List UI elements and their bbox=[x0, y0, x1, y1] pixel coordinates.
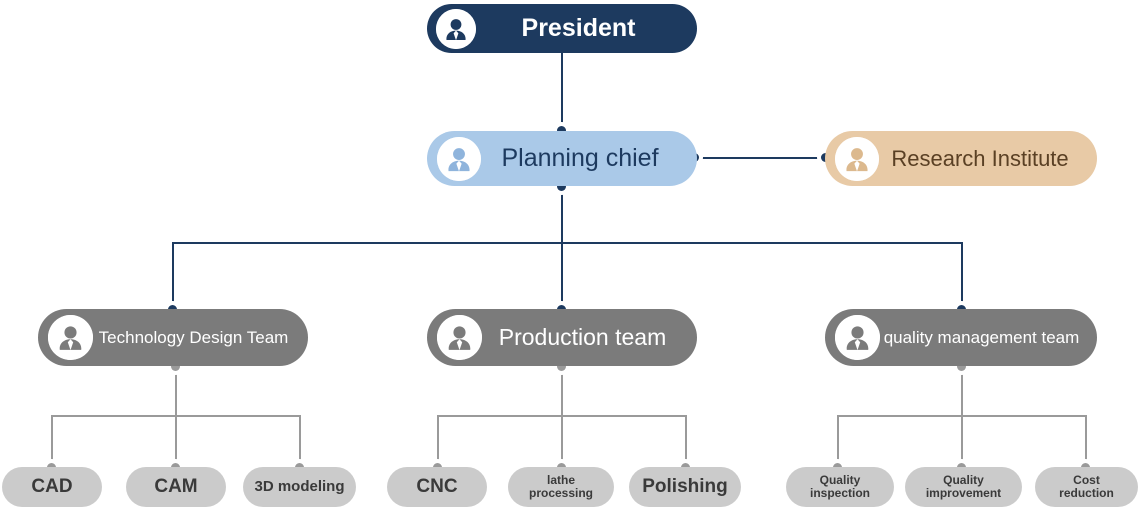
node-polishing[interactable]: Polishing bbox=[629, 467, 741, 507]
node-3d-modeling-label: 3D modeling bbox=[254, 479, 344, 496]
connector-bus-to-production-team bbox=[561, 242, 563, 310]
connector-teams-bus bbox=[172, 242, 962, 244]
node-cost-reduction-label: Cost reduction bbox=[1059, 474, 1114, 500]
node-cad[interactable]: CAD bbox=[2, 467, 102, 507]
node-cnc-label: CNC bbox=[416, 477, 457, 498]
connector-bus-to-tech-team bbox=[172, 242, 174, 310]
person-icon bbox=[48, 315, 93, 360]
org-chart-canvas: President Planning chief Research Instit… bbox=[0, 0, 1140, 507]
node-production-team-label: Production team bbox=[482, 324, 697, 350]
node-quality-improvement-line1: Quality bbox=[943, 473, 984, 487]
node-production-team[interactable]: Production team bbox=[427, 309, 697, 366]
node-lathe-processing-line2: processing bbox=[529, 486, 593, 500]
node-cam[interactable]: CAM bbox=[126, 467, 226, 507]
node-polishing-label: Polishing bbox=[642, 477, 728, 498]
connector-quality-to-improvement bbox=[961, 415, 963, 468]
node-technology-design-team[interactable]: Technology Design Team bbox=[38, 309, 308, 366]
connector-production-to-lathe bbox=[561, 415, 563, 468]
connector-planning-to-research bbox=[694, 157, 827, 159]
node-quality-improvement[interactable]: Quality improvement bbox=[905, 467, 1022, 507]
connector-quality-drop bbox=[961, 366, 963, 416]
connector-president-to-planning bbox=[561, 52, 563, 130]
node-president-label: President bbox=[476, 14, 697, 43]
node-quality-improvement-label: Quality improvement bbox=[926, 474, 1001, 500]
node-cost-reduction-line1: Cost bbox=[1073, 473, 1100, 487]
node-cost-reduction-line2: reduction bbox=[1059, 486, 1114, 500]
person-icon bbox=[436, 9, 476, 49]
node-president[interactable]: President bbox=[427, 4, 697, 53]
connector-tech-to-cam bbox=[175, 415, 177, 468]
node-quality-inspection[interactable]: Quality inspection bbox=[786, 467, 894, 507]
node-lathe-processing-label: lathe processing bbox=[529, 474, 593, 500]
node-quality-inspection-label: Quality inspection bbox=[810, 474, 870, 500]
connector-production-drop bbox=[561, 366, 563, 416]
person-icon bbox=[437, 315, 482, 360]
connector-quality-to-inspection bbox=[837, 415, 839, 468]
person-icon bbox=[835, 315, 880, 360]
connector-tech-drop bbox=[175, 366, 177, 416]
node-cad-label: CAD bbox=[31, 477, 72, 498]
connector-production-to-cnc bbox=[437, 415, 439, 468]
node-quality-management-team-label: quality management team bbox=[880, 328, 1097, 348]
connector-tech-to-cad bbox=[51, 415, 53, 468]
connector-tech-to-3d bbox=[299, 415, 301, 468]
node-planning-chief-label: Planning chief bbox=[481, 144, 697, 173]
node-quality-inspection-line1: Quality bbox=[820, 473, 861, 487]
node-quality-inspection-line2: inspection bbox=[810, 486, 870, 500]
node-quality-improvement-line2: improvement bbox=[926, 486, 1001, 500]
node-cam-label: CAM bbox=[154, 477, 197, 498]
node-research-institute-label: Research Institute bbox=[879, 146, 1097, 171]
node-cnc[interactable]: CNC bbox=[387, 467, 487, 507]
node-research-institute[interactable]: Research Institute bbox=[825, 131, 1097, 186]
person-icon bbox=[437, 137, 481, 181]
node-cost-reduction[interactable]: Cost reduction bbox=[1035, 467, 1138, 507]
connector-bus-to-quality-team bbox=[961, 242, 963, 310]
node-lathe-processing-line1: lathe bbox=[547, 473, 575, 487]
node-3d-modeling[interactable]: 3D modeling bbox=[243, 467, 356, 507]
connector-planning-drop bbox=[561, 186, 563, 243]
node-planning-chief[interactable]: Planning chief bbox=[427, 131, 697, 186]
node-technology-design-team-label: Technology Design Team bbox=[93, 328, 308, 348]
connector-production-to-polishing bbox=[685, 415, 687, 468]
node-lathe-processing[interactable]: lathe processing bbox=[508, 467, 614, 507]
person-icon bbox=[835, 137, 879, 181]
node-quality-management-team[interactable]: quality management team bbox=[825, 309, 1097, 366]
connector-quality-to-cost bbox=[1085, 415, 1087, 468]
